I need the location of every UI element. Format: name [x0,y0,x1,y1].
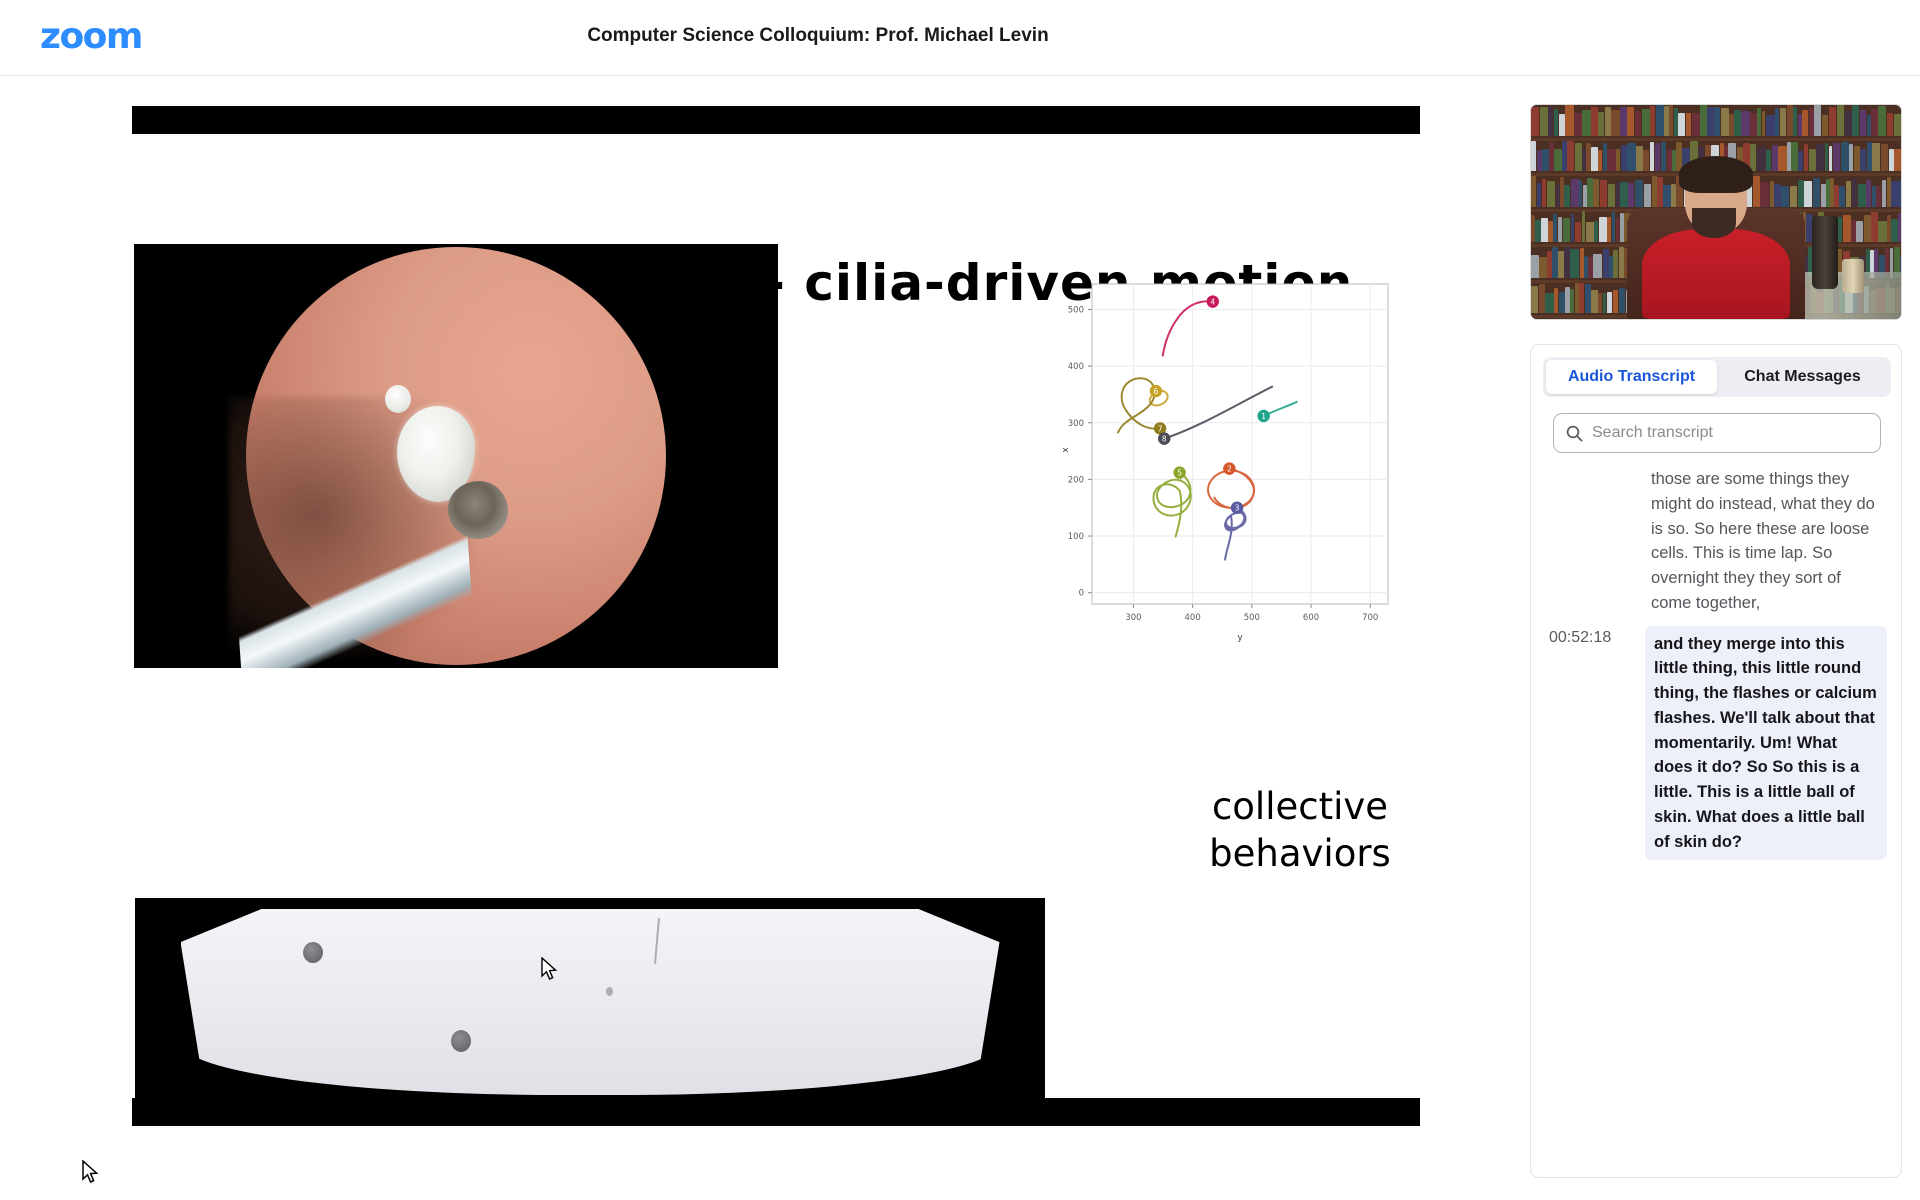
book [1609,256,1613,278]
book [1674,108,1678,136]
book [1866,180,1871,206]
svg-text:8: 8 [1162,435,1167,444]
book [1678,113,1685,136]
book [1582,211,1586,242]
book [1856,221,1863,242]
book [1531,141,1536,171]
book [1627,107,1634,136]
book [1650,106,1655,136]
book [1837,105,1845,135]
svg-text:7: 7 [1158,424,1163,433]
book [1900,179,1902,206]
svg-text:x: x [1061,447,1071,453]
book [1541,218,1548,242]
book [1860,110,1867,136]
book [1798,151,1803,171]
xenobot-spot [451,1030,471,1052]
track-marker: 3 [1231,502,1243,514]
book [1591,107,1597,136]
book [1627,143,1635,171]
book [1603,249,1609,278]
transcript-entry[interactable]: 00:52:18and they merge into this little … [1531,626,1902,861]
book [1787,105,1793,135]
book [1798,114,1802,135]
search-transcript-box[interactable] [1553,413,1881,453]
book [1872,143,1880,171]
book [1871,212,1877,242]
y-tick-label: 0 [1079,589,1084,599]
book [1593,179,1599,207]
book [1574,113,1582,135]
book [1579,180,1582,207]
book [1587,178,1592,207]
book [1591,290,1598,313]
book [1734,110,1741,135]
book [1565,105,1573,136]
book [1620,213,1624,242]
book [1846,181,1851,207]
book [1664,106,1668,135]
book [1781,186,1789,207]
bookshelf-row [1531,105,1901,141]
book [1554,149,1562,171]
y-tick-label: 300 [1068,419,1084,429]
svg-text:5: 5 [1177,469,1182,478]
svg-text:6: 6 [1154,387,1159,396]
book [1700,105,1707,136]
book [1616,182,1620,207]
book [1858,184,1866,207]
book [1564,247,1570,278]
book [1809,149,1816,171]
book [1655,143,1660,171]
book [1804,181,1812,207]
book [1887,177,1891,206]
book [1657,177,1663,207]
book [1867,142,1872,172]
book [1586,143,1590,171]
book [1813,178,1820,207]
book [1667,149,1672,171]
book [1867,115,1871,136]
book [1753,176,1760,206]
book [1802,110,1808,136]
transcript-entry[interactable]: those are some things they might do inst… [1531,465,1902,618]
book [1559,114,1565,136]
mouse-cursor-icon [82,1160,100,1185]
book [1598,293,1602,313]
book [1591,147,1598,171]
book [1570,249,1579,278]
book [1539,257,1546,277]
book [1741,111,1750,135]
book [1882,180,1887,207]
book [1778,146,1787,171]
x-tick-label: 700 [1362,613,1378,623]
book [1616,218,1620,242]
book [1563,218,1571,242]
book [1894,149,1902,171]
search-transcript-input[interactable] [1592,424,1862,442]
xenobot-nub [385,385,411,413]
book [1757,108,1761,135]
book [1871,109,1878,136]
book [1780,108,1786,135]
book [1619,247,1624,278]
book [1841,142,1849,171]
book [1612,212,1615,242]
dish-debris [654,918,660,964]
book [1531,286,1538,313]
book [1887,113,1893,136]
shared-screen-slide[interactable]: Xenobot behaviors - cilia-driven motion … [132,106,1420,1126]
book [1594,221,1598,242]
book [1603,293,1606,314]
book [1548,221,1553,242]
book [1854,146,1860,171]
book [1593,254,1602,278]
x-tick-label: 600 [1303,613,1319,623]
book [1814,105,1821,135]
tab-chat-messages-label: Chat Messages [1744,368,1861,386]
book [1620,107,1626,135]
book [1580,248,1584,278]
book [1613,290,1619,314]
book [1721,108,1729,135]
book [1804,144,1809,171]
book [1635,180,1643,206]
book [1829,107,1836,135]
collective-behaviors-caption: collective behaviors [1200,784,1400,877]
transcript-panel: Audio Transcript Chat Messages those are… [1530,344,1902,1178]
book [1652,176,1657,206]
book [1851,220,1856,242]
book [1636,146,1642,171]
book [1757,147,1766,171]
book [1833,143,1841,171]
in-video-cursor-icon [541,957,559,982]
book [1585,284,1591,314]
speaker-torso [1642,229,1790,319]
book [1750,144,1757,171]
svg-text:4: 4 [1210,298,1215,307]
book [1650,142,1655,171]
transcript-timestamp [1549,465,1645,618]
book [1729,114,1734,136]
speaker-video-tile[interactable] [1530,104,1902,320]
book [1774,184,1780,207]
y-tick-label: 400 [1068,362,1084,372]
book [1603,143,1607,171]
tab-chat-messages[interactable]: Chat Messages [1717,360,1888,394]
book [1531,107,1539,135]
caption-line-2: behaviors [1209,832,1391,875]
book [1798,180,1804,206]
book [1600,180,1608,206]
book [1556,185,1560,206]
book [1598,150,1602,171]
y-tick-label: 200 [1068,475,1084,485]
book [1635,111,1642,136]
svg-text:3: 3 [1235,504,1240,513]
track-marker: 6 [1150,385,1162,397]
book [1878,106,1886,135]
book [1770,181,1774,207]
book [1852,105,1859,135]
book [1588,257,1593,278]
book [1611,110,1620,136]
book [1852,179,1858,206]
trajectory-plot: 3004005006007000100200300400500 12345678… [1054,278,1402,670]
transcript-text: and they merge into this little thing, t… [1645,626,1887,861]
book [1548,106,1553,136]
book [1565,287,1570,313]
book [1821,184,1826,207]
book [1692,113,1700,135]
book [1558,217,1562,242]
book [1620,182,1627,206]
book [1553,214,1557,242]
tab-audio-transcript[interactable]: Audio Transcript [1546,360,1717,394]
book [1826,179,1830,207]
book [1894,114,1902,136]
book [1822,115,1828,136]
x-tick-label: 400 [1185,613,1201,623]
slide-letterbox-top [132,106,1420,134]
book [1540,107,1548,136]
book [1825,143,1829,171]
book [1887,215,1891,242]
book [1791,142,1797,171]
book [1642,109,1650,135]
xenobot-spot [303,942,323,963]
book [1829,146,1832,171]
x-tick-label: 300 [1125,613,1141,623]
book [1583,185,1587,206]
book [1542,149,1549,172]
book [1616,149,1620,171]
caption-line-1: collective [1212,785,1388,828]
book [1839,186,1845,206]
book [1775,108,1779,136]
transcript-timestamp: 00:52:18 [1549,626,1645,861]
book [1554,288,1558,313]
book [1772,145,1778,171]
book [1599,217,1607,242]
book [1567,141,1574,171]
book [1613,250,1618,277]
book [1643,150,1649,171]
book [1607,292,1613,313]
book [1537,183,1541,206]
panel-tab-bar: Audio Transcript Chat Messages [1543,357,1891,397]
book [1872,186,1876,206]
speaker-beard [1692,208,1736,238]
book [1559,292,1565,313]
book [1760,182,1769,207]
book [1762,111,1766,136]
book [1545,293,1553,313]
x-tick-label: 500 [1244,613,1260,623]
book [1575,222,1581,242]
dish-debris [606,987,613,996]
trajectory-plot-svg: 3004005006007000100200300400500 12345678… [1054,278,1402,670]
microscope-video [134,244,778,668]
track-marker: 4 [1207,295,1219,307]
book [1849,144,1853,171]
book [1531,215,1535,242]
zoom-top-bar: zoom Computer Science Colloquium: Prof. … [0,0,1920,76]
book [1766,150,1771,171]
book [1898,213,1902,242]
book [1571,179,1579,206]
svg-text:1: 1 [1261,412,1266,421]
book [1575,143,1582,171]
book [1707,107,1713,136]
book [1845,111,1852,135]
transcript-list[interactable]: those are some things they might do inst… [1531,465,1902,1178]
y-tick-label: 500 [1068,305,1084,315]
book [1714,107,1720,136]
dish-surface [181,909,1000,1096]
book [1607,217,1611,242]
book [1790,186,1798,206]
book [1554,109,1559,135]
book [1552,247,1557,278]
book [1889,149,1894,171]
book [1891,219,1898,242]
tab-audio-transcript-label: Audio Transcript [1568,368,1695,386]
book [1663,185,1670,207]
book [1661,142,1667,171]
book [1686,113,1692,135]
track-marker: 2 [1223,462,1235,474]
book [1570,289,1574,313]
book [1607,149,1616,171]
book [1644,184,1651,206]
book [1860,149,1866,172]
book [1598,112,1604,136]
book [1750,113,1756,136]
book [1605,107,1611,136]
book [1843,215,1851,242]
book [1571,214,1575,242]
svg-text:y: y [1237,633,1243,643]
book [1531,255,1539,278]
forceps-tool [231,515,479,668]
book [1834,185,1838,207]
speaker-hair [1679,156,1753,192]
search-icon [1566,425,1583,442]
track-marker: 1 [1257,410,1269,422]
book [1878,221,1886,243]
book [1669,105,1673,136]
svg-text:2: 2 [1227,465,1232,474]
book [1535,220,1541,242]
book [1864,215,1871,243]
book [1582,110,1591,136]
book [1816,144,1824,171]
book [1531,176,1536,206]
book [1564,185,1570,206]
book [1787,142,1791,171]
book [1628,183,1634,206]
book [1891,181,1900,207]
track-marker: 5 [1173,466,1185,478]
drum-object [1812,216,1838,289]
book [1793,107,1797,135]
book [1586,222,1594,243]
transcript-text: those are some things they might do inst… [1645,465,1887,618]
book [1809,108,1814,135]
book [1621,145,1627,171]
book [1619,288,1625,313]
book [1766,115,1775,135]
book [1558,251,1564,277]
book [1547,251,1552,278]
book [1575,283,1579,313]
y-tick-label: 100 [1068,532,1084,542]
microscope-field [246,247,666,665]
book [1881,144,1889,171]
book [1547,181,1555,206]
drum-object [1842,259,1864,293]
book [1671,184,1675,207]
book [1608,184,1615,207]
meeting-title: Computer Science Colloquium: Prof. Micha… [0,25,1636,47]
book [1537,150,1542,171]
book [1562,141,1566,171]
book [1876,186,1881,206]
track-marker: 8 [1158,432,1170,444]
book [1579,283,1584,313]
book [1539,284,1545,313]
book [1549,142,1553,171]
book [1830,178,1834,207]
petri-dish-video [135,898,1045,1110]
book [1656,105,1664,135]
book [1542,179,1546,206]
